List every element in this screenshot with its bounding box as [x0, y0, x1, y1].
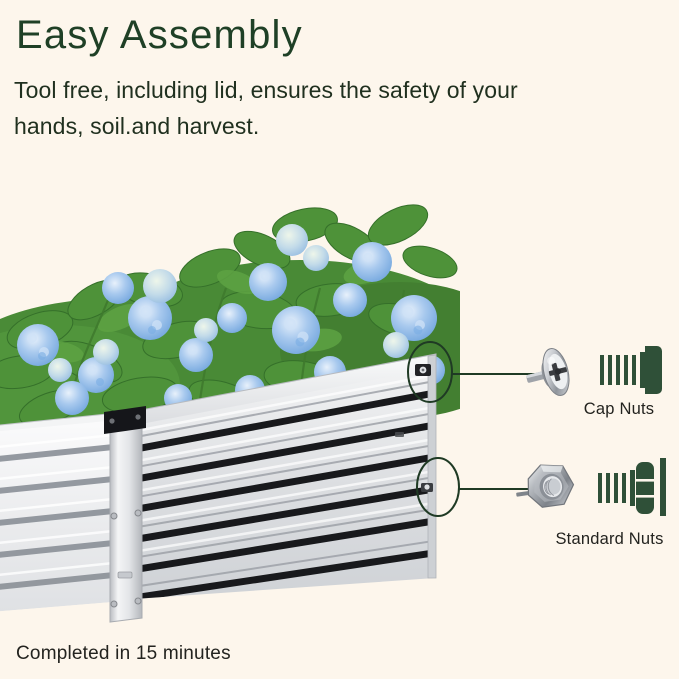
- standard-nut-photo: [513, 461, 576, 511]
- subtitle-line-1: Tool free, including lid, ensures the sa…: [14, 77, 518, 103]
- standard-nuts-label: Standard Nuts: [540, 530, 679, 549]
- standard-nuts-icon: [598, 458, 666, 516]
- infographic-canvas: Easy Assembly Tool free, including lid, …: [0, 0, 679, 679]
- corner-post: [110, 420, 142, 622]
- post-screw: [111, 513, 117, 519]
- cap-nuts-icon: [600, 346, 662, 394]
- page-subtitle: Tool free, including lid, ensures the sa…: [14, 72, 634, 144]
- completion-time-caption: Completed in 15 minutes: [16, 642, 231, 666]
- post-screw: [135, 510, 141, 516]
- bolt-cap-nut-on-panel: [415, 364, 431, 376]
- bolt-standard-nut-on-panel: [421, 483, 433, 492]
- page-title: Easy Assembly: [16, 12, 303, 58]
- subtitle-line-2: hands, soil.and harvest.: [14, 113, 259, 139]
- cap-nuts-label: Cap Nuts: [560, 400, 678, 419]
